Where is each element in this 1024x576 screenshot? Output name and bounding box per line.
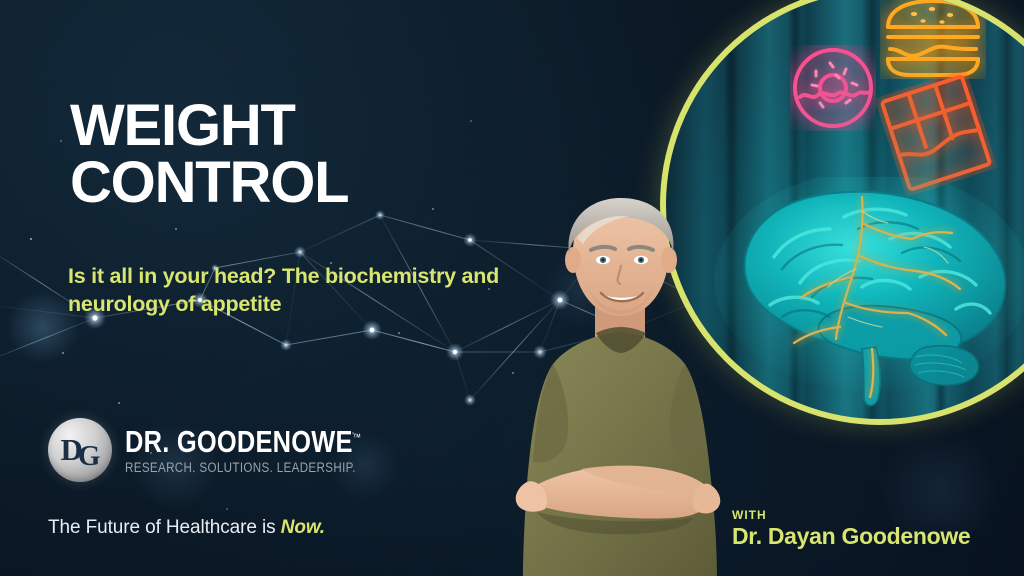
page-title: WEIGHT CONTROL [70,97,348,212]
dg-monogram-text: DG [61,434,100,466]
headline-line-1: WEIGHT [70,93,295,158]
burger-neon-icon [880,0,986,79]
with-label: WITH [732,508,970,522]
brand-logo: DG DR. GOODENOWE™ RESEARCH. SOLUTIONS. L… [48,418,413,482]
trademark-symbol: ™ [353,432,361,443]
presenter-photo [497,196,747,576]
chocolate-bar-neon-icon [874,69,997,198]
brand-tagline: RESEARCH. SOLUTIONS. LEADERSHIP. [125,460,373,475]
monogram-letter-d: D [61,432,80,467]
brand-name-text: DR. GOODENOWE [125,424,353,459]
headline-line-2: CONTROL [70,154,348,211]
host-credit: WITH Dr. Dayan Goodenowe [732,508,970,550]
future-tagline-emphasis: Now. [281,517,325,538]
future-tagline: The Future of Healthcare is Now. [48,517,325,539]
brand-name: DR. GOODENOWE™ [125,426,361,457]
donut-neon-icon [790,45,876,131]
dg-monogram-badge: DG [48,418,112,482]
monogram-letter-g: G [78,440,98,472]
promo-banner: WEIGHT CONTROL Is it all in your head? T… [0,0,1024,576]
host-name: Dr. Dayan Goodenowe [732,523,970,550]
future-tagline-prefix: The Future of Healthcare is [48,517,281,538]
brain-illustration [712,177,1024,412]
brand-wordmark: DR. GOODENOWE™ RESEARCH. SOLUTIONS. LEAD… [125,426,413,475]
subtitle: Is it all in your head? The biochemistry… [68,262,568,319]
